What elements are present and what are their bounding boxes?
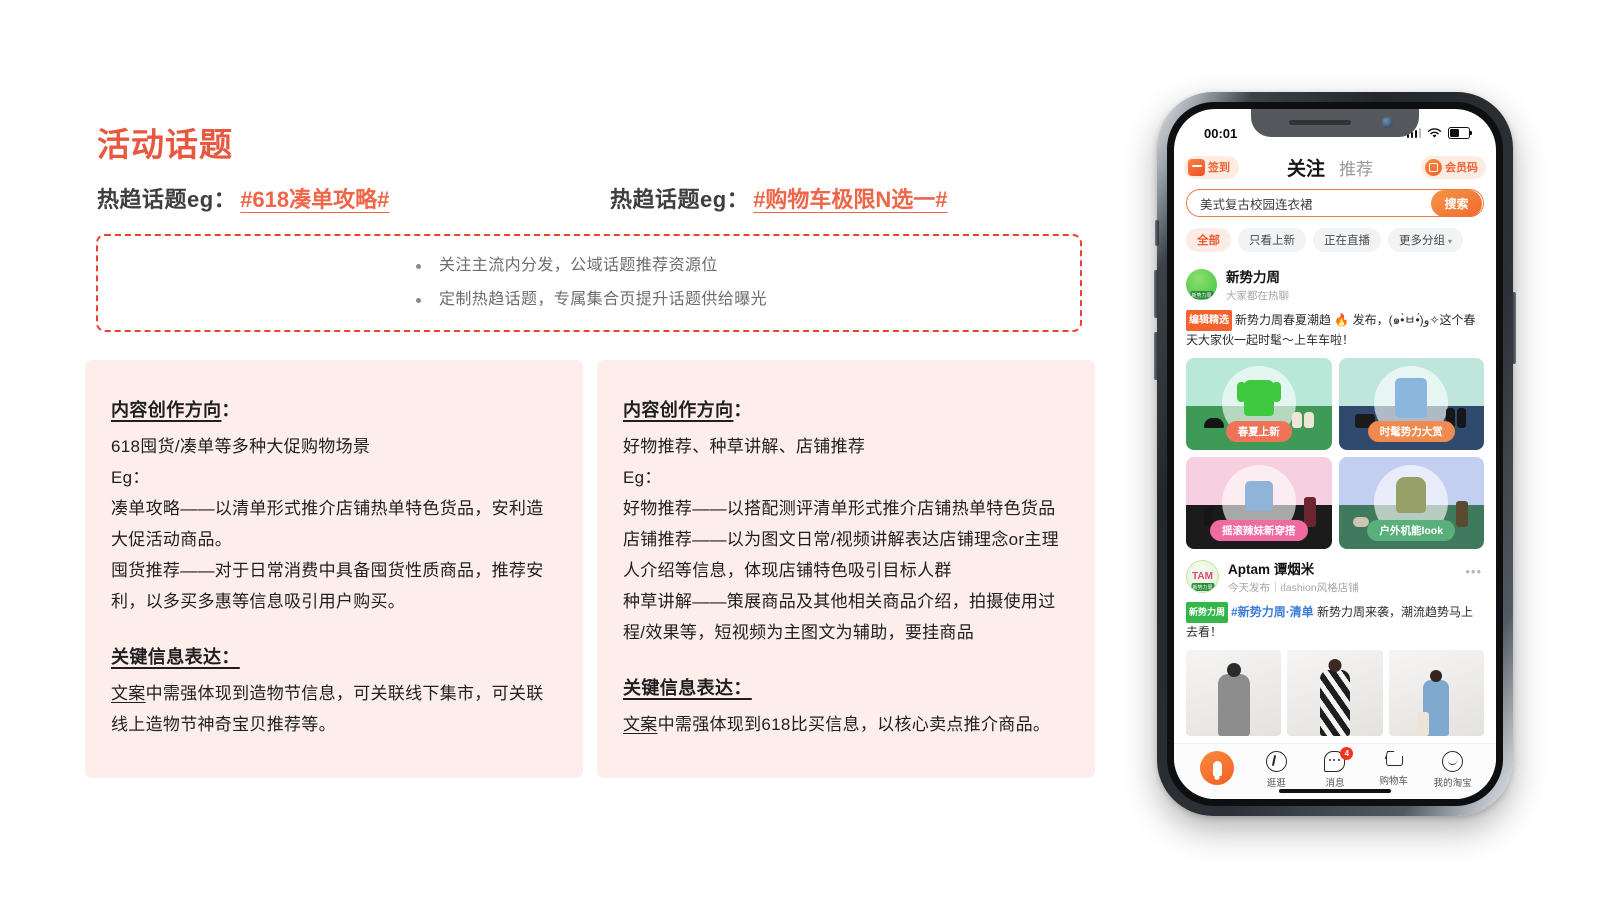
card-left-key-prefix: 文案 [111,684,146,703]
card-left-key-label: 关键信息表达： [111,647,240,667]
card-left-direction-colon: ： [221,400,239,420]
tile-label: 时髦势力大赏 [1368,421,1455,442]
card-left-spacer [111,617,557,643]
content-card-left: 内容创作方向： 618囤货/凑单等多种大促购物场景 Eg： 凑单攻略——以清单形… [85,360,583,778]
model-figure [1423,680,1449,736]
slide-page: 活动话题 热趋话题eg： #618凑单攻略# 热趋话题eg： #购物车极限N选一… [0,0,1600,900]
rocket-glyph [1213,761,1222,776]
wifi-icon [1427,128,1442,139]
topic-label-2: 热趋话题eg： [610,182,749,214]
tab-recommend[interactable]: 推荐 [1339,155,1373,180]
card-left-line: 囤货推荐——对于日常消费中具备囤货性质商品，推荐安利，以多买多惠等信息吸引用户购… [111,555,557,617]
topic-label-1: 热趋话题eg： [97,182,236,214]
feed-post[interactable]: 新势力周 新势力周 大家都在热聊 编辑精选新势力周春夏潮趋 🔥 发布，(๑•̀ㅂ… [1174,257,1496,549]
feed-list[interactable]: 新势力周 新势力周 大家都在热聊 编辑精选新势力周春夏潮趋 🔥 发布，(๑•̀ㅂ… [1174,257,1496,743]
app-top-nav: 签到 关注 推荐 会员码 [1174,149,1496,185]
post-subtitle: 今天发布｜ifashion风格店铺 [1228,580,1359,595]
avatar-badge: 新势力周 [1191,583,1214,591]
face-icon [1442,751,1463,772]
status-time: 00:01 [1204,126,1237,141]
grid-tile[interactable]: 摇滚辣妹新穿搭 [1186,457,1332,549]
trail-shoe-icon [1353,517,1369,527]
bullet-dot-icon [416,264,421,269]
card-left-key-text: 文案中需强体现到造物节信息，可关联线下集市，可关联线上造物节神奇宝贝推荐等。 [111,678,557,740]
card-left-key-rest: 中需强体现到造物节信息，可关联线下集市，可关联线上造物节神奇宝贝推荐等。 [111,684,544,734]
chip-new-only[interactable]: 只看上新 [1238,228,1306,252]
card-left-key-heading: 关键信息表达： [111,643,557,669]
windbreaker-icon [1396,477,1426,513]
tab-messages-label: 消息 [1325,775,1344,789]
avatar-initials: TAM [1192,572,1213,582]
sweatshirt-icon [1244,380,1274,416]
cap-icon [1204,418,1224,428]
search-bar[interactable]: 美式复古校园连衣裙 搜索 [1186,189,1484,217]
card-right-direction-colon: ： [733,400,751,420]
bullet-item: 关注主流内分发，公域话题推荐资源位 [416,253,1080,279]
avatar-badge: 新势力周 [1190,291,1213,299]
sign-in-button[interactable]: 签到 [1184,156,1239,179]
card-left-line: 凑单攻略——以清单形式推介店铺热单特色货品，安利造大促活动商品。 [111,493,557,555]
phone-bezel: 00:01 签到 [1167,102,1503,806]
bullet-text: 关注主流内分发，公域话题推荐资源位 [439,253,718,279]
nav-tabs: 关注 推荐 [1287,154,1373,181]
home-indicator [1279,789,1391,793]
photo-thumb[interactable] [1389,650,1484,736]
card-left-line: Eg： [111,462,557,493]
filter-chip-row: 全部 只看上新 正在直播 更多分组▾ [1186,228,1496,252]
volume-down-button[interactable] [1154,332,1158,380]
model-figure [1218,674,1250,736]
post-photo-row [1186,650,1484,736]
tab-explore-label: 逛逛 [1267,775,1286,789]
card-right-line: 店铺推荐——以为图文日常/视频讲解表达店铺理念or主理人介绍等信息，体现店铺特色… [623,524,1069,586]
tab-cart-label: 购物车 [1380,773,1409,787]
tab-messages[interactable]: 4 消息 [1306,751,1365,789]
post-header: 新势力周 新势力周 大家都在热聊 [1186,257,1484,303]
grid-tile[interactable]: 户外机能look [1339,457,1485,549]
power-button[interactable] [1512,292,1516,364]
tab-explore[interactable]: 逛逛 [1247,751,1306,789]
model-figure [1320,670,1350,736]
card-right-line: 种草讲解——策展商品及其他相关商品介绍，拍摄使用过程/效果等，短视频为主图文为辅… [623,586,1069,648]
tab-cart[interactable]: 购物车 [1364,751,1423,787]
message-badge: 4 [1340,747,1353,760]
chip-all[interactable]: 全部 [1186,228,1231,252]
tab-my-taobao[interactable]: 我的淘宝 [1423,751,1482,789]
blazer-icon [1395,378,1427,418]
vip-code-button[interactable]: 会员码 [1421,156,1486,179]
bullet-dot-icon [416,298,421,303]
card-right-line: 好物推荐——以搭配测评清单形式推介店铺热单特色货品 [623,493,1069,524]
qrcode-icon [1425,159,1442,176]
photo-thumb[interactable] [1287,650,1382,736]
tab-home[interactable] [1188,751,1247,788]
pants-icon [1456,501,1468,527]
editor-pick-badge: 编辑精选 [1186,310,1232,331]
avatar[interactable]: TAM 新势力周 [1186,560,1219,593]
sign-in-label: 签到 [1208,159,1230,175]
post-meta: Aptam 谭烟米 今天发布｜ifashion风格店铺 [1228,558,1359,595]
card-right-line: Eg： [623,462,1069,493]
boot-icon [1457,408,1466,428]
card-right-key-label: 关键信息表达： [623,678,752,698]
card-left-line: 618囤货/凑单等多种大促购物场景 [111,431,557,462]
campaign-badge: 新势力周 [1186,602,1228,623]
gift-icon [1188,159,1205,176]
photo-thumb[interactable] [1186,650,1281,736]
post-image-grid: 春夏上新 时髦势力大赏 [1186,358,1484,549]
vip-code-label: 会员码 [1445,159,1478,175]
post-text: 新势力周#新势力周·清单 新势力周来袭，潮流趋势马上去看！ [1186,602,1484,642]
slide-content: 活动话题 热趋话题eg： #618凑单攻略# 热趋话题eg： #购物车极限N选一… [0,0,1140,900]
avatar[interactable]: 新势力周 [1186,269,1217,300]
front-camera-icon [1382,117,1393,128]
tab-my-taobao-label: 我的淘宝 [1434,775,1472,789]
card-right-key-heading: 关键信息表达： [623,674,1069,700]
tile-label: 摇滚辣妹新穿搭 [1210,520,1308,541]
bullet-text: 定制热趋话题，专属集合页提升话题供给曝光 [439,287,767,313]
card-right-key-text: 文案中需强体现到618比买信息，以核心卖点推介商品。 [623,709,1069,740]
page-title: 活动话题 [97,118,233,166]
card-left-direction-heading: 内容创作方向： [111,396,557,422]
denim-jacket-icon [1245,481,1273,511]
phone-screen: 00:01 签到 [1174,109,1496,799]
status-indicators [1407,127,1471,139]
chevron-down-icon: ▾ [1448,237,1452,246]
sneaker-icon [1292,412,1302,428]
more-options-icon[interactable]: ••• [1465,564,1482,579]
card-right-direction-label: 内容创作方向 [623,400,733,420]
topic-value-1[interactable]: #618凑单攻略# [240,182,389,214]
grid-tile[interactable]: 时髦势力大赏 [1339,358,1485,450]
grid-tile[interactable]: 春夏上新 [1186,358,1332,450]
topic-value-2[interactable]: #购物车极限N选一# [753,182,947,214]
walk-icon [1266,751,1287,772]
tile-label: 户外机能look [1367,520,1455,541]
post-author: 新势力周 [1226,266,1289,286]
topic-row-1: 热趋话题eg： #618凑单攻略# [97,182,389,218]
card-right-direction-heading: 内容创作方向： [623,396,1069,422]
mute-switch[interactable] [1155,220,1159,246]
battery-icon [1448,127,1470,139]
card-right-key-rest: 中需强体现到618比买信息，以核心卖点推介商品。 [658,715,1051,734]
feed-post[interactable]: TAM 新势力周 Aptam 谭烟米 今天发布｜ifashion风格店铺 •••… [1174,549,1496,736]
volume-up-button[interactable] [1154,270,1158,318]
post-subtitle: 大家都在热聊 [1226,288,1289,303]
card-left-direction-label: 内容创作方向 [111,400,221,420]
chip-more-groups[interactable]: 更多分组▾ [1388,228,1463,252]
post-author: Aptam 谭烟米 [1228,558,1359,578]
card-right-key-prefix: 文案 [623,715,658,734]
tile-label: 春夏上新 [1226,421,1292,442]
post-body: 新势力周来袭，潮流趋势马上去看！ [1186,605,1473,639]
chip-more-groups-label: 更多分组 [1399,235,1445,247]
home-rocket-icon [1200,751,1234,785]
bullet-item: 定制热趋话题，专属集合页提升话题供给曝光 [416,287,1080,313]
content-card-right: 内容创作方向： 好物推荐、种草讲解、店铺推荐 Eg： 好物推荐——以搭配测评清单… [597,360,1095,778]
sneaker-icon [1304,412,1314,428]
search-input[interactable]: 美式复古校园连衣裙 [1200,194,1313,213]
card-right-spacer [623,648,1069,674]
cart-icon [1384,751,1403,770]
tab-following[interactable]: 关注 [1287,154,1325,181]
chip-live-now[interactable]: 正在直播 [1313,228,1381,252]
phone-mockup: 00:01 签到 [1157,92,1513,816]
post-text: 编辑精选新势力周春夏潮趋 🔥 发布，(๑•̀ㅂ•́)و✧这个春天大家伙一起时髦～… [1186,310,1484,350]
card-right-line: 好物推荐、种草讲解、店铺推荐 [623,431,1069,462]
highlights-box: 关注主流内分发，公域话题推荐资源位 定制热趋话题，专属集合页提升话题供给曝光 [96,234,1082,332]
topic-row-2: 热趋话题eg： #购物车极限N选一# [610,182,948,218]
post-header: TAM 新势力周 Aptam 谭烟米 今天发布｜ifashion风格店铺 ••• [1186,549,1484,595]
earpiece-speaker-icon [1289,120,1351,125]
notch [1251,109,1419,137]
search-button[interactable]: 搜索 [1431,190,1481,217]
post-hashtag[interactable]: #新势力周·清单 [1231,605,1314,619]
post-meta: 新势力周 大家都在热聊 [1226,266,1289,303]
